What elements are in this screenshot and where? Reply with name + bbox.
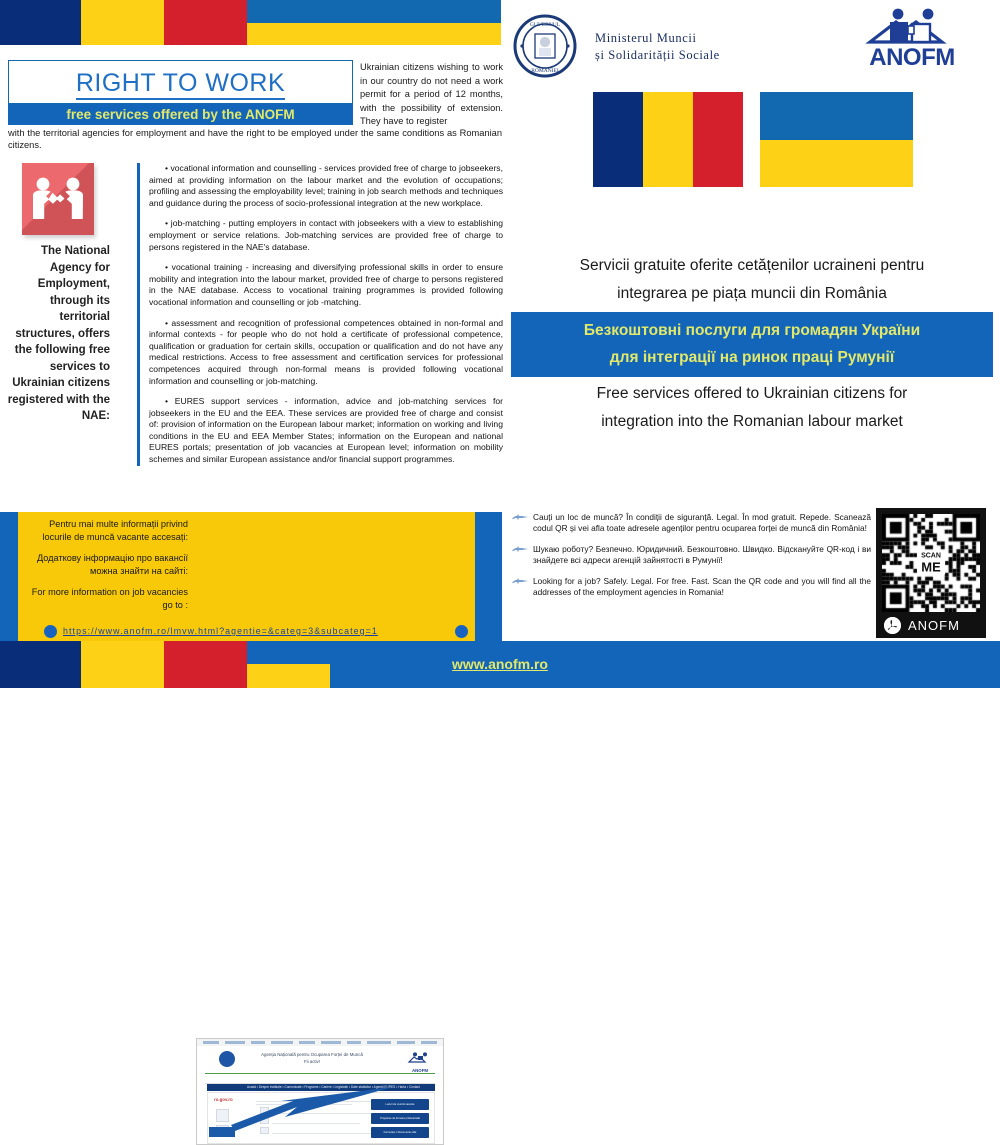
slogan-ro-line-1: Servicii gratuite oferite cetățenilor uc… <box>511 252 993 280</box>
bullet-item: • job-matching - putting employers in co… <box>149 218 503 253</box>
romania-flag-navy-band <box>0 0 81 45</box>
question-ro: Cauți un loc de muncă? În condiții de si… <box>533 512 871 535</box>
romania-flag-yellow-band <box>81 0 164 45</box>
slogan-ua-line-2: для інтеграції на ринок праці Румунії <box>515 344 989 371</box>
leaflet-page: RIGHT TO WORK free services offered by t… <box>0 0 1000 688</box>
list-item: Cauți un loc de muncă? În condiții de si… <box>511 512 871 535</box>
handshake-icon <box>22 163 94 235</box>
panel-instructions: Pentru mai multe informații privind locu… <box>20 518 188 620</box>
footer-flag-bar: www.anofm.ro <box>0 641 1000 688</box>
question-ua: Шукаю роботу? Безпечно. Юридичний. Безко… <box>533 544 871 567</box>
footer-website-link[interactable]: www.anofm.ro <box>0 641 1000 688</box>
qr-footer: ANOFM <box>882 616 980 636</box>
subtitle-text: free services offered by the ANOFM <box>8 104 353 125</box>
bullet-item: • vocational information and counselling… <box>149 163 503 209</box>
flags-row <box>593 92 913 187</box>
pointing-hand-icon <box>511 513 529 524</box>
qr-center-label: SCAN ME <box>917 552 945 575</box>
job-vacancies-panel: Pentru mai multe informații privind locu… <box>0 512 502 641</box>
anofm-wordmark: ANOFM <box>852 44 972 72</box>
romania-flag-red-band <box>164 0 247 45</box>
questions-list: Cauți un loc de muncă? În condiții de si… <box>511 512 871 607</box>
ukraine-flag <box>760 92 913 187</box>
bullet-item: • EURES support services - information, … <box>149 396 503 466</box>
services-bullet-list: • vocational information and counselling… <box>137 163 503 466</box>
left-caption: The National Agency for Employment, thro… <box>6 243 110 425</box>
qr-brand-label: ANOFM <box>908 616 960 635</box>
ukraine-flag-blue-band <box>247 0 501 23</box>
bullet-dot-right-icon <box>455 625 468 638</box>
qr-code-block[interactable]: SCAN ME ANOFM <box>876 508 986 638</box>
slogan-ua-line-1: Безкоштовні послуги для громадян України <box>515 317 989 344</box>
ministry-line-1: Ministerul Muncii <box>595 31 697 45</box>
question-en: Looking for a job? Safely. Legal. For fr… <box>533 576 871 599</box>
anofm-logo: ANOFM <box>852 8 972 70</box>
bullet-dot-left-icon <box>44 625 57 638</box>
government-seal-icon: GUVERNUL ROMÂNIEI <box>513 14 577 78</box>
slogan-ua-box: Безкоштовні послуги для громадян України… <box>511 312 993 377</box>
website-screenshot-thumbnail[interactable]: Agenția Națională pentru Ocuparea Forței… <box>196 1038 444 1145</box>
panel-right-blue-strip <box>475 512 502 641</box>
slogan-ro-line-2: integrarea pe piața muncii din România <box>511 280 993 308</box>
list-item: Шукаю роботу? Безпечно. Юридичний. Безко… <box>511 544 871 567</box>
ministry-line-2: și Solidarității Sociale <box>595 47 815 64</box>
bullet-item: • vocational training - increasing and d… <box>149 262 503 308</box>
instruction-en: For more information on job vacancies go… <box>20 586 188 612</box>
right-column: GUVERNUL ROMÂNIEI Ministerul Muncii și S… <box>505 0 1000 641</box>
ukraine-flag-yellow-band <box>247 23 501 45</box>
instruction-ro: Pentru mai multe informații privind locu… <box>20 518 188 544</box>
slogan-en-line-2: integration into the Romanian labour mar… <box>511 408 993 436</box>
pointer-arrow-icon <box>197 1039 443 1144</box>
intro-paragraph-continued: with the territorial agencies for employ… <box>8 127 502 151</box>
subtitle-bar: free services offered by the ANOFM <box>8 104 353 125</box>
url-row: https://www.anofm.ro/lmvw.html?agentie=&… <box>22 625 474 641</box>
page-title: RIGHT TO WORK <box>9 61 352 105</box>
vacancies-url-link[interactable]: https://www.anofm.ro/lmvw.html?agentie=&… <box>63 625 378 638</box>
slogan-en-line-1: Free services offered to Ukrainian citiz… <box>511 380 993 408</box>
pointing-hand-icon <box>511 577 529 588</box>
ministry-name: Ministerul Muncii și Solidarității Socia… <box>595 30 815 64</box>
pdf-icon <box>884 617 901 634</box>
bullet-item: • assessment and recognition of professi… <box>149 318 503 388</box>
svg-text:ROMÂNIEI: ROMÂNIEI <box>531 66 559 74</box>
list-item: Looking for a job? Safely. Legal. For fr… <box>511 576 871 599</box>
qr-code-image[interactable]: SCAN ME <box>882 514 980 612</box>
pointing-hand-icon <box>511 545 529 556</box>
romania-flag <box>593 92 743 187</box>
panel-left-blue-strip <box>0 512 18 641</box>
top-flag-banner <box>0 0 501 45</box>
slogan-block: Servicii gratuite oferite cetățenilor uc… <box>511 252 993 436</box>
intro-paragraph-right: Ukrainian citizens wishing to work in ou… <box>360 61 503 129</box>
title-box: RIGHT TO WORK <box>8 60 353 104</box>
qr-me-label: ME <box>921 561 941 574</box>
instruction-ua: Додаткову інформацію про вакансії можна … <box>20 552 188 578</box>
svg-text:GUVERNUL: GUVERNUL <box>530 22 561 28</box>
left-column: RIGHT TO WORK free services offered by t… <box>0 45 505 512</box>
